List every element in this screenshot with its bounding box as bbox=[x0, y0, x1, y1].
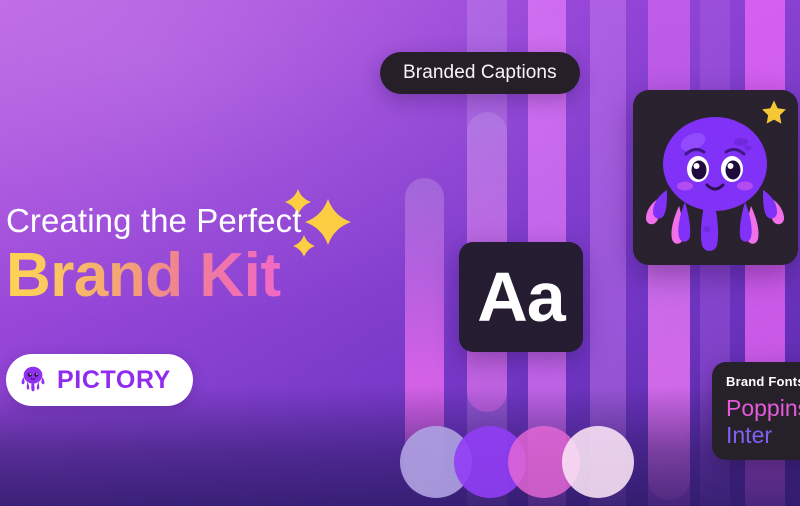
brand-font-secondary: Inter bbox=[726, 422, 800, 449]
promo-canvas: Creating the Perfect Brand Kit PICTORY B… bbox=[0, 0, 800, 506]
mascot-card[interactable] bbox=[633, 90, 798, 265]
typography-sample: Aa bbox=[477, 262, 564, 332]
swatch-blush[interactable] bbox=[562, 426, 634, 498]
octopus-mascot-icon bbox=[633, 252, 798, 265]
brand-fonts-panel[interactable]: Brand Fonts Poppins Inter bbox=[712, 362, 800, 460]
typography-card[interactable]: Aa bbox=[459, 242, 583, 352]
brand-color-swatches bbox=[400, 426, 600, 506]
brand-fonts-title: Brand Fonts bbox=[726, 374, 800, 389]
branded-captions-pill[interactable]: Branded Captions bbox=[380, 52, 580, 94]
octopus-icon bbox=[18, 363, 48, 398]
headline-block: Creating the Perfect Brand Kit bbox=[6, 204, 406, 310]
headline-kicker: Creating the Perfect bbox=[6, 204, 406, 239]
branded-captions-label: Branded Captions bbox=[403, 62, 557, 84]
page-title: Brand Kit bbox=[6, 243, 406, 310]
brand-font-primary: Poppins bbox=[726, 395, 800, 422]
star-badge-icon bbox=[759, 98, 789, 133]
pictory-logo-badge[interactable]: PICTORY bbox=[6, 354, 193, 406]
logo-wordmark: PICTORY bbox=[57, 366, 171, 395]
